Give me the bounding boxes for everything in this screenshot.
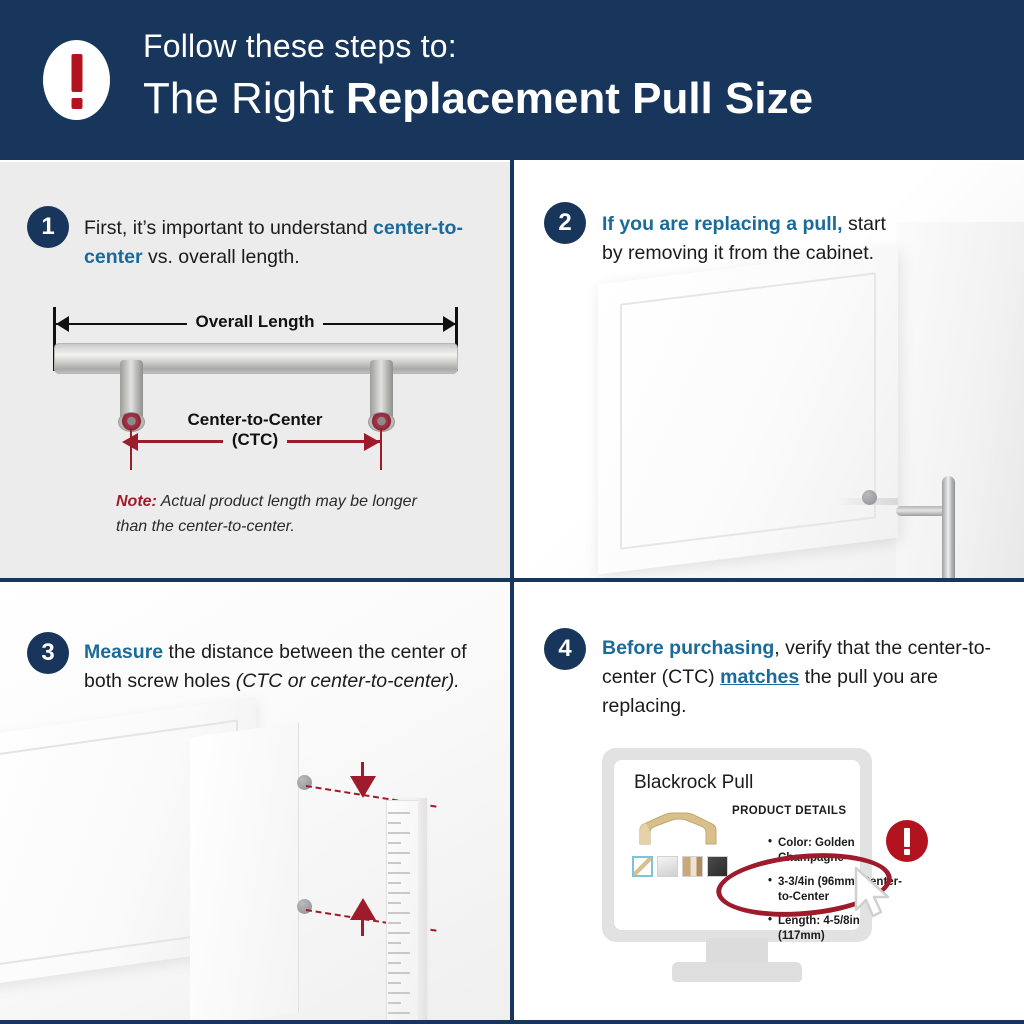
ruler-edge [418,798,427,1024]
thumbnail-2[interactable] [682,856,703,877]
pull-bar-graphic [54,343,458,374]
step-text-2: If you are replacing a pull, start by re… [602,210,892,268]
horizontal-divider [0,578,1024,582]
thumbnail-1[interactable] [657,856,678,877]
pull-bar-2 [942,476,955,578]
exclamation-icon [43,40,110,120]
ruler-tick [388,862,401,864]
step-panel-3: 3 Measure the distance between the cente… [0,582,510,1024]
screw-hole-top-2 [862,490,877,505]
monitor-base [672,962,802,982]
ruler-tick [388,892,410,894]
ruler-tick [388,832,410,834]
ctc-label-line2-text: (CTC) [223,430,287,449]
note-label: Note: [116,493,157,510]
pull-dimension-diagram: Overall Length Center-to-Center (CTC) No… [0,162,510,578]
measure-arrow-up [350,898,376,920]
ruler-tick [388,942,401,944]
product-title: Blackrock Pull [634,772,753,794]
ruler-tick [388,952,410,954]
product-thumbnail-strip[interactable] [632,856,728,877]
ctc-label-line2: (CTC) [0,430,510,450]
header-title: The Right Replacement Pull Size [143,74,813,124]
header-title-regular: The Right [143,74,346,123]
overall-length-label: Overall Length [0,312,510,332]
measure-arrow-down [350,776,376,798]
thumbnail-3[interactable] [707,856,728,877]
pull-leg-top-2 [896,506,946,516]
header-title-bold: Replacement Pull Size [346,74,813,123]
ctc-label-line1: Center-to-Center [0,410,510,430]
step-text-4: Before purchasing, verify that the cente… [602,634,1002,721]
step-text-3: Measure the distance between the center … [84,638,484,696]
ruler-tick [388,1002,401,1004]
infographic-root: Follow these steps to: The Right Replace… [0,0,1024,1024]
step4-part-a: Before purchasing [602,637,774,659]
step4-part-c[interactable]: matches [720,666,799,688]
step-panel-2: 2 If you are replacing a pull, start by … [514,162,1024,578]
ruler-tick [388,912,410,914]
step-number-2: 2 [544,202,586,244]
alert-exclamation-icon [886,820,928,862]
step-panel-1: 1 First, it’s important to understand ce… [0,162,510,578]
vertical-divider [510,160,514,1024]
ruler-tick [388,902,401,904]
ruler-tick [388,962,401,964]
arrow-stem-bottom [361,920,364,936]
step3-part-a: Measure [84,641,163,663]
ruler-tick [388,982,401,984]
ruler-tick [388,822,401,824]
ruler-tick [388,972,410,974]
step3-part-c: (CTC or center-to-center). [236,670,460,692]
step-number-4: 4 [544,628,586,670]
ruler-tick [388,852,410,854]
product-details-heading: PRODUCT DETAILS [732,805,846,817]
header-eyebrow: Follow these steps to: [143,28,457,65]
ruler-tick [388,812,410,814]
step2-part-a: If you are replacing a pull, [602,213,843,235]
product-image-pull[interactable] [634,804,720,848]
ruler-tick [388,1012,410,1014]
cabinet-door-2 [598,248,898,575]
diagram-note: Note: Actual product length may be longe… [116,489,446,539]
note-text: Actual product length may be longer than… [116,493,417,535]
ruler-tick [388,932,410,934]
overall-length-text: Overall Length [187,312,322,331]
ruler-tick [388,922,401,924]
bottom-border [0,1020,1024,1024]
ruler-tick [388,882,401,884]
ruler-tick [388,872,410,874]
header-banner: Follow these steps to: The Right Replace… [0,0,1024,160]
mouse-pointer-icon [852,866,896,920]
step-number-3: 3 [27,632,69,674]
thumbnail-0[interactable] [632,856,653,877]
ruler-tick [388,992,410,994]
ruler-tick [388,842,401,844]
cabinet-stile-3 [190,722,299,1024]
cabinet-side-wall-2 [896,222,1024,578]
